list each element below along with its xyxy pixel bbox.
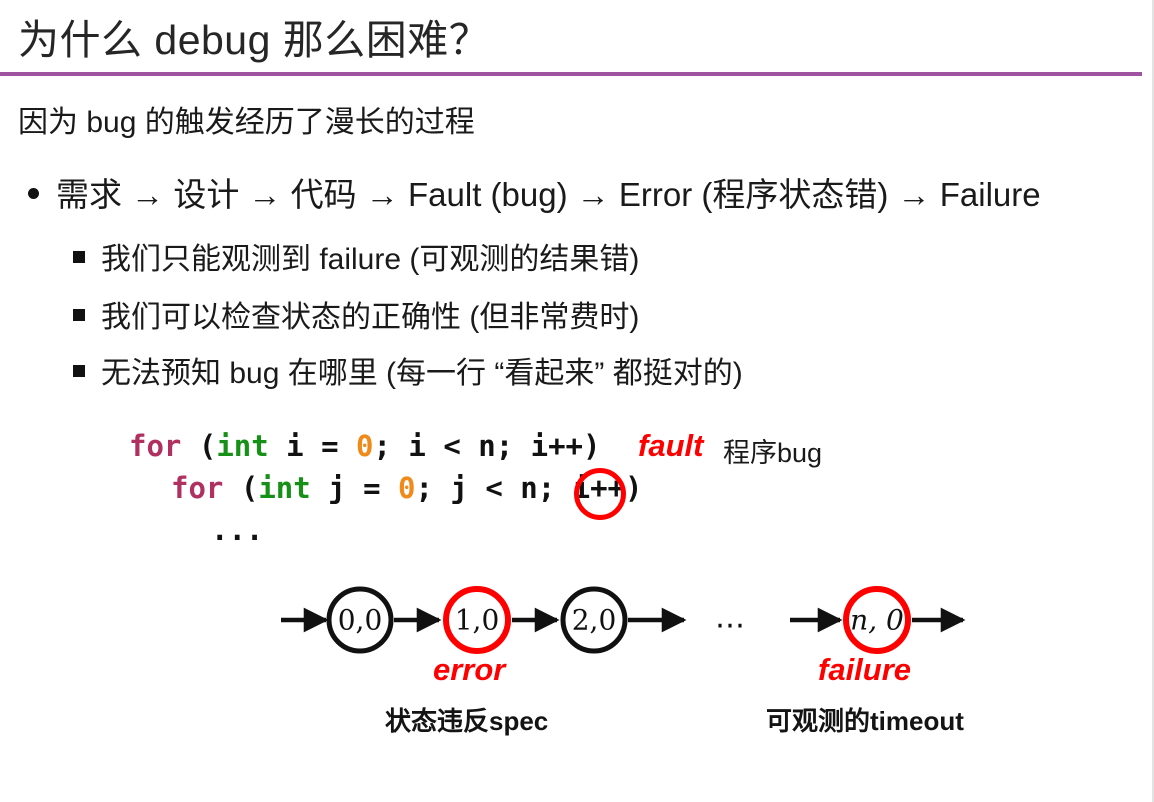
bullet-level2-label: 我们只能观测到 failure (可观测的结果错) bbox=[101, 234, 639, 278]
code-open-paren: ( bbox=[223, 471, 258, 505]
code-number-zero: 0 bbox=[398, 471, 415, 505]
code-line-2: for (int j = 0; j < n; i++) bbox=[129, 467, 642, 509]
code-keyword-for: for bbox=[129, 429, 181, 463]
bug-highlight-circle-icon bbox=[574, 468, 626, 520]
state-machine-diagram: 0,0 1,0 2,0 … n, 0 bbox=[0, 560, 1154, 680]
bullet-level2-label: 我们可以检查状态的正确性 (但非常费时) bbox=[101, 292, 639, 336]
caption-error: 状态违反spec bbox=[385, 701, 548, 738]
bullet-level2-label: 无法预知 bug 在哪里 (每一行 “看起来” 都挺对的) bbox=[101, 348, 743, 392]
bullet-square-icon bbox=[73, 309, 85, 321]
code-type-int: int bbox=[258, 471, 310, 505]
fault-note: 程序bug bbox=[723, 431, 822, 470]
bullet-level2-0: 我们只能观测到 failure (可观测的结果错) bbox=[73, 234, 639, 278]
slide-canvas: 为什么 debug 那么困难？ 因为 bug 的触发经历了漫长的过程 需求 → … bbox=[0, 0, 1154, 802]
caption-failure: 可观测的timeout bbox=[766, 701, 964, 738]
diagram-ellipsis: … bbox=[715, 601, 745, 636]
code-number-zero: 0 bbox=[356, 429, 373, 463]
bullet-square-icon bbox=[73, 365, 85, 377]
code-block: for (int i = 0; i < n; i++) for (int j =… bbox=[129, 425, 642, 551]
bullet-level2-2: 无法预知 bug 在哪里 (每一行 “看起来” 都挺对的) bbox=[73, 348, 743, 392]
bullet-square-icon bbox=[73, 251, 85, 263]
state-node-1-label: 1,0 bbox=[455, 604, 500, 637]
code-keyword-for: for bbox=[171, 471, 223, 505]
state-node-n-label: n, 0 bbox=[850, 604, 904, 637]
bullet-level1: 需求 → 设计 → 代码 → Fault (bug) → Error (程序状态… bbox=[28, 168, 1041, 216]
state-node-2-label: 2,0 bbox=[572, 604, 617, 637]
code-open-paren: ( bbox=[181, 429, 216, 463]
state-node-0-label: 0,0 bbox=[338, 604, 383, 637]
failure-label: failure bbox=[818, 652, 911, 688]
bullet-level1-label: 需求 → 设计 → 代码 → Fault (bug) → Error (程序状态… bbox=[56, 168, 1041, 216]
error-label: error bbox=[433, 652, 505, 688]
page-title: 为什么 debug 那么困难？ bbox=[18, 6, 490, 66]
code-line-3: ... bbox=[129, 509, 263, 551]
fault-label: fault bbox=[638, 428, 703, 464]
code-init: i = bbox=[269, 429, 356, 463]
title-divider bbox=[0, 72, 1142, 76]
code-cond-incr: ; i < n; i++) bbox=[373, 429, 600, 463]
code-init: j = bbox=[311, 471, 398, 505]
bullet-dot-icon bbox=[28, 188, 39, 199]
subtitle: 因为 bug 的触发经历了漫长的过程 bbox=[18, 97, 475, 141]
bullet-level2-1: 我们可以检查状态的正确性 (但非常费时) bbox=[73, 292, 639, 336]
code-line-1: for (int i = 0; i < n; i++) bbox=[129, 429, 600, 463]
code-type-int: int bbox=[216, 429, 268, 463]
